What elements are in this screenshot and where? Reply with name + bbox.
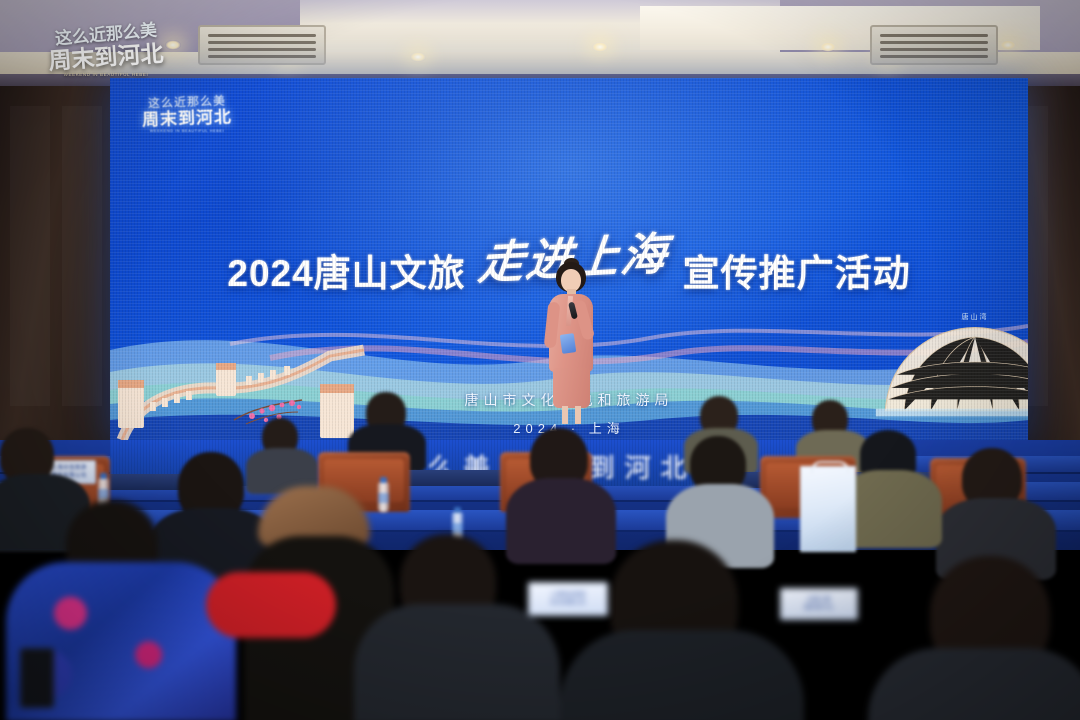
wall-panel: [10, 106, 50, 406]
presenter-skirt: [553, 368, 590, 408]
presenter-leg-right: [575, 406, 581, 424]
table-name-card: 北国之春 国际旅行社: [780, 588, 858, 620]
wall-panel: [1026, 106, 1048, 406]
downlight: [1000, 40, 1016, 50]
wall-panel: [62, 106, 102, 406]
wall-left: [0, 86, 118, 466]
presenter: [540, 262, 602, 427]
audience-body: [506, 478, 616, 564]
name-card-line1: 上海众信旅游: [51, 464, 86, 472]
gift-bag: [800, 466, 856, 552]
table-name-card: 上海恒达旅游 实业有限公司: [528, 582, 608, 616]
air-conditioner-vent: [870, 25, 998, 65]
name-card-line2: 实业有限公司: [550, 599, 585, 607]
presenter-leg-left: [562, 406, 568, 424]
name-card-line2: 国际旅行社: [804, 604, 834, 612]
downlight: [410, 52, 426, 62]
name-card-line1: 北国之春: [807, 596, 831, 604]
presenter-cue-cards: [560, 333, 577, 354]
conference-photo: 唐山湾 这么近那么美 周末到河北 WEEKEND IN BEAUTIFUL HE…: [0, 0, 1080, 720]
name-card-line1: 上海恒达旅游: [550, 591, 585, 599]
audience-body: [868, 648, 1080, 720]
downlight: [592, 42, 608, 52]
downlight: [165, 40, 181, 50]
air-conditioner-vent: [198, 25, 326, 65]
mobile-phone: [20, 648, 54, 708]
downlight: [820, 42, 836, 52]
audience-body: [560, 630, 804, 720]
audience-red-scarf: [206, 572, 336, 638]
water-bottle: [378, 482, 389, 512]
audience-body: [354, 604, 560, 720]
